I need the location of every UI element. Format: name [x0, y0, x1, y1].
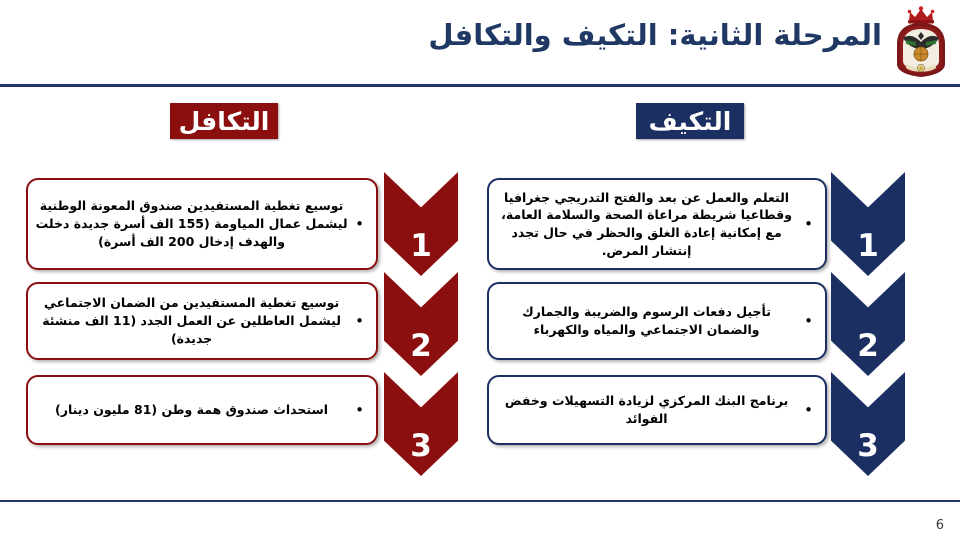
bullet-icon: • [349, 314, 366, 329]
page-number: 6 [936, 518, 944, 533]
column-header-takafol: التكافل [170, 103, 278, 139]
column-header-takafol-label: التكافل [179, 107, 270, 136]
column-header-takayof-label: التكيف [649, 107, 732, 136]
slide-header: المرحلة الثانية: التكيف والتكافل [0, 0, 960, 86]
header-divider [0, 84, 960, 87]
step-number: 3 [410, 428, 432, 464]
step-chevron-3: 3 [831, 372, 905, 476]
step-chevron-3: 3 [384, 372, 458, 476]
step-chevron-2: 2 [384, 272, 458, 376]
list-item[interactable]: • استحداث صندوق همة وطن (81 مليون دينار) [26, 375, 378, 445]
list-item[interactable]: • توسيع تغطية المستفيدين من الضمان الاجت… [26, 282, 378, 360]
step-number: 3 [857, 428, 879, 464]
footer-divider [0, 500, 960, 502]
slide-canvas: المرحلة الثانية: التكيف والتكافل [0, 0, 960, 540]
list-item-text: التعلم والعمل عن بعد والفتح التدريجي جغر… [495, 189, 798, 260]
bullet-icon: • [349, 403, 366, 418]
list-item-text: توسيع تغطية المستفيدين من الضمان الاجتما… [34, 294, 349, 347]
bullet-icon: • [798, 217, 815, 232]
column-header-takayof: التكيف [636, 103, 744, 139]
list-item[interactable]: • تأجيل دفعات الرسوم والضريبة والجمارك و… [487, 282, 827, 360]
step-chevron-1: 1 [831, 172, 905, 276]
step-chevron-2: 2 [831, 272, 905, 376]
list-item-text: برنامج البنك المركزي لزيادة التسهيلات وخ… [495, 392, 798, 428]
step-number: 2 [857, 328, 879, 364]
bullet-icon: • [798, 403, 815, 418]
bullet-icon: • [349, 217, 366, 232]
jordan-coat-of-arms-icon [890, 6, 952, 80]
list-item-text: استحداث صندوق همة وطن (81 مليون دينار) [34, 401, 349, 419]
list-item[interactable]: • برنامج البنك المركزي لزيادة التسهيلات … [487, 375, 827, 445]
list-item-text: تأجيل دفعات الرسوم والضريبة والجمارك وال… [495, 303, 798, 339]
list-item-text: توسيع تغطية المستفيدين صندوق المعونة الو… [34, 197, 349, 250]
step-number: 1 [410, 228, 432, 264]
step-chevron-1: 1 [384, 172, 458, 276]
list-item[interactable]: • توسيع تغطية المستفيدين صندوق المعونة ا… [26, 178, 378, 270]
step-number: 1 [857, 228, 879, 264]
page-title: المرحلة الثانية: التكيف والتكافل [342, 18, 882, 53]
step-number: 2 [410, 328, 432, 364]
bullet-icon: • [798, 314, 815, 329]
list-item[interactable]: • التعلم والعمل عن بعد والفتح التدريجي ج… [487, 178, 827, 270]
